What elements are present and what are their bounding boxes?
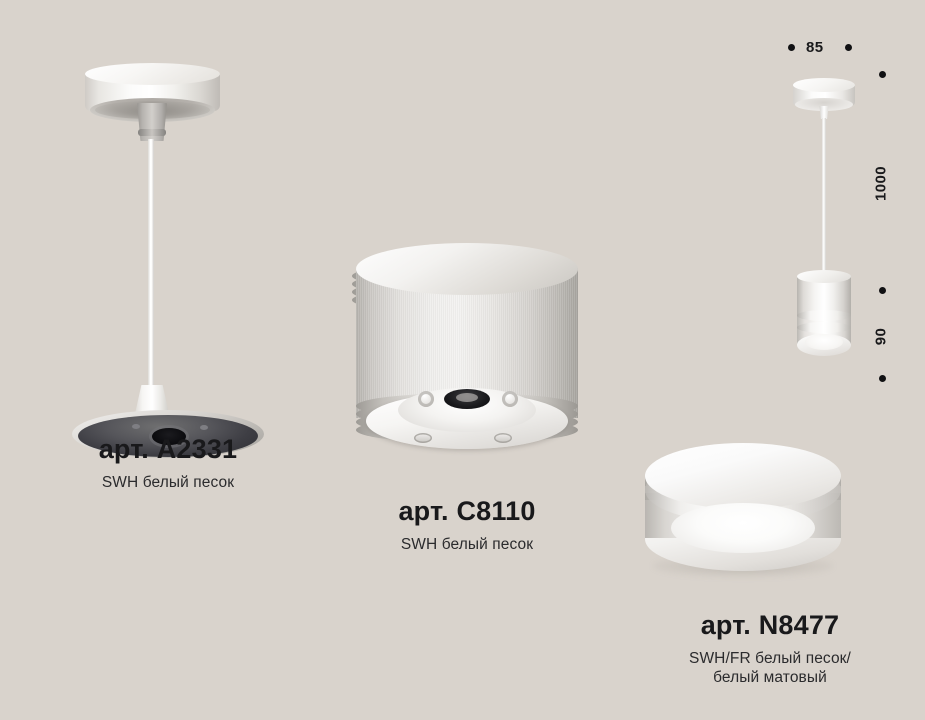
plate-screw [414,433,432,443]
product-image-a2331 [78,55,258,405]
assembly-diffuser-ring [797,310,851,321]
canopy-top-face [85,63,220,85]
aperture-reflector [456,393,478,402]
product-image-n8477 [645,443,845,578]
fixing-boss [418,391,434,407]
label-a2331: арт. A2331 SWH белый песок [18,432,318,492]
dimension-dot-height-bottom [879,375,886,382]
assembly-diffuser-ring [797,322,851,333]
dimension-drop-value: 1000 [873,163,890,205]
product-image-c8110 [352,243,582,458]
suspension-cable [148,139,154,397]
dimension-dot-width-right [845,44,852,51]
assembly-cylinder-top [797,270,851,283]
product-code-a2331: арт. A2331 [18,432,318,467]
assembly-lens [805,334,843,350]
product-image-assembly [787,78,867,378]
dimension-dot-width-left [788,44,795,51]
plate-screw [494,433,512,443]
dimension-dot-drop-bottom [879,287,886,294]
cylinder-top-face [356,243,578,295]
product-description-a2331: SWH белый песок [18,473,318,493]
frosted-lens [671,503,815,553]
plate-screw [200,425,208,430]
assembly-cable [822,118,826,276]
dimension-height-value: 90 [873,324,890,350]
assembly-canopy-top [793,78,855,92]
product-description-n8477: SWH/FR белый песок/ белый матовый [620,649,920,689]
plate-screw [132,424,140,429]
product-code-n8477: арт. N8477 [620,608,920,643]
cable-gland-ring [138,129,166,136]
ring-top-face [645,443,841,509]
dimension-dot-drop-top [879,71,886,78]
label-c8110: арт. C8110 SWH белый песок [317,494,617,554]
catalog-canvas: арт. A2331 SWH белый песок арт. C8110 SW… [0,0,925,720]
fixing-boss [502,391,518,407]
product-code-c8110: арт. C8110 [317,494,617,529]
label-n8477: арт. N8477 SWH/FR белый песок/ белый мат… [620,608,920,688]
dimension-width-value: 85 [806,39,824,56]
product-description-c8110: SWH белый песок [317,535,617,555]
